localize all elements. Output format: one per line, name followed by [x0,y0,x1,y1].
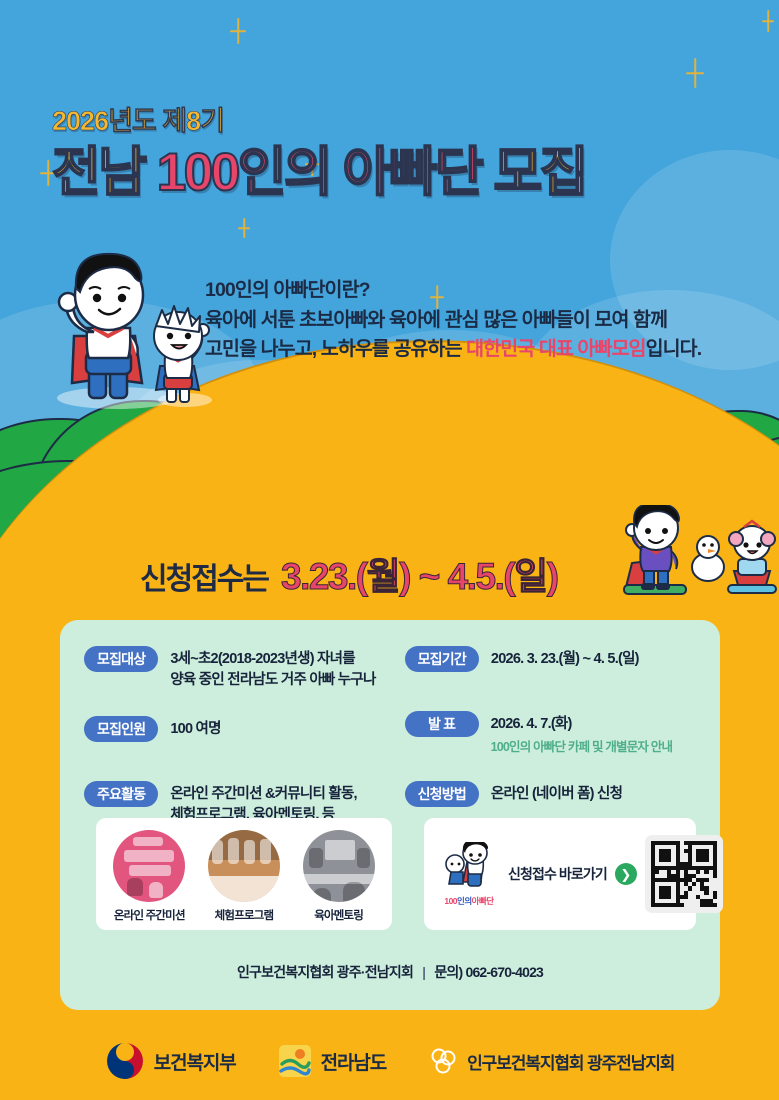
details-card: 모집대상 3세~초2(2018-2023년생) 자녀를 양육 중인 전라남도 거… [60,620,720,1010]
value-recruit-period: 2026. 3. 23.(월) ~ 4. 5.(일) [491,646,639,670]
photo-parenting-mentoring [303,830,375,902]
activity-photos-card: 온라인 주간미션 체험프로그램 [96,818,392,930]
spacer [84,757,405,781]
headline-block: 2026년도 제8기 전남 100인의 아빠단 모집 [52,108,586,200]
contact-separator: | [422,964,425,980]
detail-row-apply-method: 신청방법 온라인 (네이버 폼) 신청 [405,781,696,807]
date-banner-value: 3.23.(월) ~ 4.5.(일) [281,546,558,600]
spacer [405,770,696,781]
jeonnam-emblem-icon [278,1044,312,1078]
logo-ppfk: 인구보건복지협회 광주전남지회 [428,1046,674,1076]
footer-logo-bar: 보건복지부 전라남도 인구보건복지협회 광주전남지회 [0,1030,779,1092]
sparkle-icon [686,58,704,88]
photo-caption: 육아멘토링 [293,907,385,923]
value-recruit-target: 3세~초2(2018-2023년생) 자녀를 양육 중인 전라남도 거주 아빠 … [170,646,375,690]
photo-online-weekly-mission [113,830,185,902]
label-recruit-target: 모집대상 [84,646,158,672]
label-recruit-headcount: 모집인원 [84,716,158,742]
apply-logo-wordmark: 100인의아빠단 [438,895,500,907]
label-apply-method: 신청방법 [405,781,479,807]
detail-row-announcement: 발 표 2026. 4. 7.(화) 100인의 아빠단 카페 및 개별문자 안… [405,711,696,755]
chevron-right-icon[interactable]: ❯ [615,863,637,885]
application-period-banner: 신청접수는 3.23.(월) ~ 4.5.(일) [140,546,558,600]
label-announcement: 발 표 [405,711,479,737]
contact-phone: 문의) 062-670-4023 [434,964,543,980]
value-announcement: 2026. 4. 7.(화) 100인의 아빠단 카페 및 개별문자 안내 [491,711,673,755]
details-left-column: 모집대상 3세~초2(2018-2023년생) 자녀를 양육 중인 전라남도 거… [84,646,405,840]
value-main-activities-line1: 온라인 주간미션 &커뮤니티 활동, [170,786,357,802]
announcement-subnote: 100인의 아빠단 카페 및 개별문자 안내 [491,739,673,755]
value-recruit-target-line1: 3세~초2(2018-2023년생) 자녀를 [170,651,355,667]
detail-row-target: 모집대상 3세~초2(2018-2023년생) 자녀를 양육 중인 전라남도 거… [84,646,405,690]
value-recruit-headcount: 100 여명 [170,716,220,740]
date-banner-label: 신청접수는 [140,554,268,598]
activity-photo-item: 체험프로그램 [198,830,290,923]
apply-cta-label[interactable]: 신청접수 바로가기 [508,864,607,884]
value-recruit-target-line2: 양육 중인 전라남도 거주 아빠 누구나 [170,672,375,688]
photo-caption: 온라인 주간미션 [103,907,195,923]
activity-photo-item: 육아멘토링 [293,830,385,923]
intro-highlight: 대한민국 대표 아빠모임 [466,338,645,360]
poster-title: 전남 100인의 아빠단 모집 [52,146,586,200]
contact-line: 인구보건복지협회 광주·전남지회 | 문의) 062-670-4023 [60,962,720,982]
apply-logo-mid: 인의 [457,896,472,906]
label-main-activities: 주요활동 [84,781,158,807]
dad-and-child-mascot-illustration [42,240,217,415]
intro-line-3: 고민을 나누고, 노하우를 공유하는 대한민국 대표 아빠모임입니다. [205,335,701,365]
mini-dad-child-icon [441,842,497,888]
poster-canvas: 2026년도 제8기 전남 100인의 아빠단 모집 [0,0,779,1100]
activity-photo-item: 온라인 주간미션 [103,830,195,923]
intro-line3-pre: 고민을 나누고, 노하우를 공유하는 [205,338,466,360]
contact-organization: 인구보건복지협회 광주·전남지회 [237,964,413,980]
sparkle-icon [238,218,250,238]
spacer [84,705,405,716]
sparkle-icon [762,10,774,32]
detail-row-headcount: 모집인원 100 여명 [84,716,405,742]
poster-kicker: 2026년도 제8기 [52,108,586,135]
logo-label-mohw: 보건복지부 [154,1048,236,1075]
intro-line-1: 100인의 아빠단이란? [205,276,701,306]
sledding-mascots-illustration [620,505,779,600]
photo-experience-program [208,830,280,902]
title-part-recruit: 모집 [493,143,586,202]
photo-caption: 체험프로그램 [198,907,290,923]
ppfk-rings-icon [428,1046,458,1076]
title-part-100people: 100인의 아빠단 [157,143,481,202]
qr-code-pattern [651,841,717,907]
apply-logo-number: 100 [444,896,457,906]
intro-line3-post: 입니다. [646,338,702,360]
taegeuk-icon [105,1041,145,1081]
apply-shortcut-box[interactable]: 100인의아빠단 신청접수 바로가기 ❯ [424,818,696,930]
intro-paragraph: 100인의 아빠단이란? 육아에 서툰 초보아빠와 육아에 관심 많은 아빠들이… [205,276,701,365]
title-part-jeonnam: 전남 [52,143,145,202]
logo-label-jeonnam: 전라남도 [321,1048,387,1075]
apply-logo-tail: 아빠단 [472,896,494,906]
details-right-column: 모집기간 2026. 3. 23.(월) ~ 4. 5.(일) 발 표 2026… [405,646,696,840]
value-announcement-date: 2026. 4. 7.(화) [491,716,572,732]
details-grid: 모집대상 3세~초2(2018-2023년생) 자녀를 양육 중인 전라남도 거… [84,646,696,840]
logo-mohw: 보건복지부 [105,1041,236,1081]
intro-line-2: 육아에 서툰 초보아빠와 육아에 관심 많은 아빠들이 모여 함께 [205,306,701,336]
qr-code[interactable] [645,835,723,913]
logo-jeonnam: 전라남도 [278,1044,387,1078]
label-recruit-period: 모집기간 [405,646,479,672]
sparkle-icon [230,18,246,44]
value-apply-method: 온라인 (네이버 폼) 신청 [491,781,622,805]
logo-label-ppfk: 인구보건복지협회 광주전남지회 [467,1049,674,1074]
spacer [405,687,696,711]
apply-mascot-logo: 100인의아빠단 [438,842,500,907]
detail-row-period: 모집기간 2026. 3. 23.(월) ~ 4. 5.(일) [405,646,696,672]
